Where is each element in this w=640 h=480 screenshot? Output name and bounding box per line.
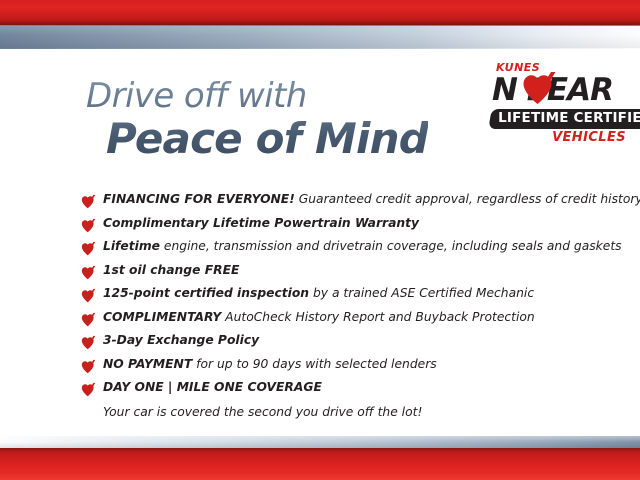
benefit-text: NO PAYMENT for up to 90 days with select… — [103, 357, 437, 372]
bottom-red-band — [0, 448, 640, 480]
benefit-row: FINANCING FOR EVERYONE! Guaranteed credi… — [79, 192, 609, 210]
benefit-item: COMPLIMENTARY AutoCheck History Report a… — [79, 310, 609, 328]
heart-check-icon — [79, 288, 96, 304]
benefit-item: Complimentary Lifetime Powertrain Warran… — [79, 216, 609, 234]
headline-line-2: Peace of Mind — [106, 116, 428, 162]
benefit-text-normal: for up to 90 days with selected lenders — [192, 357, 436, 371]
heart-check-icon — [79, 265, 96, 281]
benefit-subtext: Your car is covered the second you drive… — [103, 404, 609, 420]
heart-check-icon — [79, 312, 96, 328]
benefit-text-bold: NO PAYMENT — [103, 357, 192, 371]
benefit-row: Lifetime engine, transmission and drivet… — [79, 239, 609, 257]
benefit-text-normal: AutoCheck History Report and Buyback Pro… — [221, 310, 534, 324]
benefit-text-bold: 125-point certified inspection — [103, 286, 309, 300]
benefit-text-normal: engine, transmission and drivetrain cove… — [160, 239, 622, 253]
benefit-item: FINANCING FOR EVERYONE! Guaranteed credi… — [79, 192, 609, 210]
benefit-row: 3-Day Exchange Policy — [79, 333, 609, 351]
benefit-item: DAY ONE | MILE ONE COVERAGEYour car is c… — [79, 380, 609, 420]
heart-check-icon — [79, 218, 96, 234]
benefit-text-normal: by a trained ASE Certified Mechanic — [309, 286, 534, 300]
top-gray-band-sheen — [0, 25, 640, 48]
headline-line-1: Drive off with — [86, 78, 428, 114]
benefit-row: COMPLIMENTARY AutoCheck History Report a… — [79, 310, 609, 328]
headline-block: Drive off with Peace of Mind — [86, 78, 428, 162]
benefit-text: Complimentary Lifetime Powertrain Warran… — [103, 216, 419, 231]
logo-lifetime-certified-badge: LIFETIME CERTIFIED — [488, 109, 640, 129]
benefit-item: Lifetime engine, transmission and drivet… — [79, 239, 609, 257]
benefit-row: Complimentary Lifetime Powertrain Warran… — [79, 216, 609, 234]
benefits-list: FINANCING FOR EVERYONE! Guaranteed credi… — [79, 192, 609, 420]
logo-lifetime-certified-text: LIFETIME CERTIFIED — [498, 111, 640, 126]
benefit-text-bold: 3-Day Exchange Policy — [103, 333, 259, 347]
benefit-text-bold: Complimentary Lifetime Powertrain Warran… — [103, 216, 419, 230]
benefit-text-normal: Guaranteed credit approval, regardless o… — [295, 192, 640, 206]
benefit-text-bold: FINANCING FOR EVERYONE! — [103, 192, 295, 206]
benefit-item: 1st oil change FREE — [79, 263, 609, 281]
benefit-item: NO PAYMENT for up to 90 days with select… — [79, 357, 609, 375]
benefit-row: DAY ONE | MILE ONE COVERAGE — [79, 380, 609, 398]
top-red-band — [0, 0, 640, 25]
benefit-text-bold: COMPLIMENTARY — [103, 310, 221, 324]
benefit-text-bold: 1st oil change FREE — [103, 263, 239, 277]
benefit-row: NO PAYMENT for up to 90 days with select… — [79, 357, 609, 375]
logo-suffix-vehicles: VEHICLES — [480, 131, 626, 145]
heart-check-icon — [79, 335, 96, 351]
benefit-text: DAY ONE | MILE ONE COVERAGE — [103, 380, 322, 395]
benefit-text: 125-point certified inspection by a trai… — [103, 286, 534, 301]
benefit-text: FINANCING FOR EVERYONE! Guaranteed credi… — [103, 192, 640, 207]
benefit-text: Lifetime engine, transmission and drivet… — [103, 239, 622, 254]
heart-check-icon — [79, 382, 96, 398]
benefit-item: 3-Day Exchange Policy — [79, 333, 609, 351]
benefit-item: 125-point certified inspection by a trai… — [79, 286, 609, 304]
heart-check-icon — [79, 241, 96, 257]
logo-wordmark-group: N FEAR — [480, 74, 632, 107]
no-fear-logo: KUNES N FEAR LIFETIME CERTIFIED VEHICLES — [480, 62, 632, 145]
benefit-text-bold: Lifetime — [103, 239, 160, 253]
logo-wordmark-nofear: N FEAR — [492, 74, 632, 107]
benefit-row: 125-point certified inspection by a trai… — [79, 286, 609, 304]
benefit-text: 3-Day Exchange Policy — [103, 333, 259, 348]
benefit-row: 1st oil change FREE — [79, 263, 609, 281]
heart-check-icon — [517, 70, 557, 108]
heart-check-icon — [79, 194, 96, 210]
benefit-text: 1st oil change FREE — [103, 263, 239, 278]
bottom-gray-band-sheen — [0, 436, 640, 448]
benefit-text-bold: DAY ONE | MILE ONE COVERAGE — [103, 380, 322, 394]
benefit-text: COMPLIMENTARY AutoCheck History Report a… — [103, 310, 535, 325]
kunes-no-fear-banner: Drive off with Peace of Mind KUNES N FEA… — [0, 0, 640, 480]
heart-check-icon — [79, 359, 96, 375]
